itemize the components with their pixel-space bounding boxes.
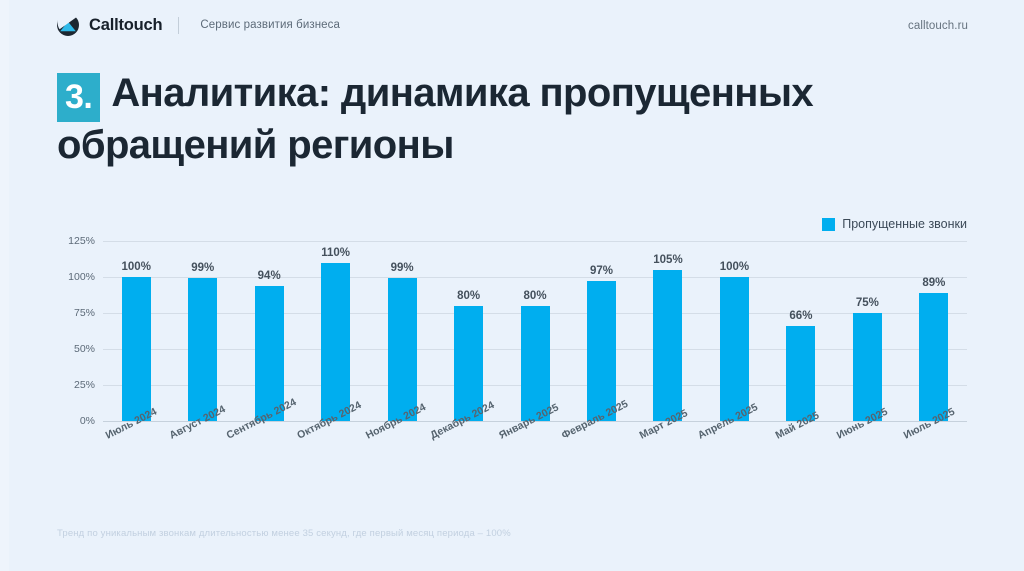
bar[interactable]	[919, 293, 948, 421]
bar-value-label: 105%	[635, 254, 701, 266]
x-axis: Июль 2024Август 2024Сентябрь 2024Октябрь…	[103, 427, 967, 495]
bar-group: 100%99%94%110%99%80%80%97%105%100%66%75%…	[103, 241, 967, 421]
y-axis-tick-label: 75%	[74, 307, 95, 319]
bar-value-label: 80%	[435, 290, 501, 302]
x-axis-slot: Май 2025	[768, 427, 834, 495]
bar-value-label: 66%	[768, 310, 834, 322]
bar[interactable]	[653, 270, 682, 421]
x-axis-slot: Июль 2024	[103, 427, 169, 495]
bar-value-label: 89%	[901, 277, 967, 289]
bar[interactable]	[255, 286, 284, 421]
brand-name: Calltouch	[89, 16, 162, 35]
section-number-badge: 3.	[57, 73, 100, 122]
bar-slot: 80%	[502, 241, 568, 421]
bar-slot: 94%	[236, 241, 302, 421]
bar-value-label: 80%	[502, 290, 568, 302]
x-axis-slot: Октябрь 2024	[302, 427, 368, 495]
bar-value-label: 75%	[834, 297, 900, 309]
y-axis-tick-label: 100%	[68, 271, 95, 283]
bar[interactable]	[188, 278, 217, 421]
title-text-2: обращений регионы	[57, 122, 957, 168]
bar[interactable]	[454, 306, 483, 421]
x-axis-slot: Июнь 2025	[834, 427, 900, 495]
bar-value-label: 110%	[302, 247, 368, 259]
legend-swatch-icon	[822, 218, 835, 231]
bar-value-label: 94%	[236, 270, 302, 282]
site-url: calltouch.ru	[908, 20, 968, 32]
page-title: 3.Аналитика: динамика пропущенных обраще…	[57, 70, 957, 168]
bar-slot: 75%	[834, 241, 900, 421]
x-axis-slot: Февраль 2025	[568, 427, 634, 495]
x-axis-slot: Апрель 2025	[701, 427, 767, 495]
bar-value-label: 99%	[369, 262, 435, 274]
x-axis-slot: Сентябрь 2024	[236, 427, 302, 495]
bar[interactable]	[321, 263, 350, 421]
brand-lockup: Calltouch Сервис развития бизнеса	[56, 13, 340, 37]
chart: Пропущенные звонки 0%25%50%75%100%125% 1…	[57, 205, 967, 495]
footnote: Тренд по уникальным звонкам длительность…	[57, 528, 511, 539]
bar-value-label: 100%	[103, 261, 169, 273]
bar-slot: 110%	[302, 241, 368, 421]
x-axis-slot: Июль 2025	[901, 427, 967, 495]
bar[interactable]	[720, 277, 749, 421]
bar[interactable]	[388, 278, 417, 421]
brand-divider	[178, 17, 179, 34]
y-axis-tick-label: 125%	[68, 235, 95, 247]
bar-slot: 105%	[635, 241, 701, 421]
title-line-1: 3.Аналитика: динамика пропущенных	[57, 70, 957, 122]
x-axis-slot: Август 2024	[169, 427, 235, 495]
bar-slot: 99%	[369, 241, 435, 421]
bar-value-label: 97%	[568, 265, 634, 277]
bar[interactable]	[122, 277, 151, 421]
bar[interactable]	[853, 313, 882, 421]
bar-value-label: 100%	[701, 261, 767, 273]
bar-value-label: 99%	[169, 262, 235, 274]
bar[interactable]	[786, 326, 815, 421]
bar-slot: 100%	[701, 241, 767, 421]
bar-slot: 100%	[103, 241, 169, 421]
y-axis: 0%25%50%75%100%125%	[57, 241, 103, 421]
bar[interactable]	[521, 306, 550, 421]
y-axis-tick-label: 50%	[74, 343, 95, 355]
x-axis-slot: Ноябрь 2024	[369, 427, 435, 495]
y-axis-tick-label: 25%	[74, 379, 95, 391]
bar-slot: 97%	[568, 241, 634, 421]
bar-slot: 99%	[169, 241, 235, 421]
bar[interactable]	[587, 281, 616, 421]
plot-area: 0%25%50%75%100%125% 100%99%94%110%99%80%…	[57, 241, 967, 421]
y-axis-tick-label: 0%	[80, 415, 95, 427]
bar-slot: 80%	[435, 241, 501, 421]
slide: Calltouch Сервис развития бизнеса callto…	[0, 0, 1024, 571]
calltouch-logo-icon	[56, 13, 80, 37]
slide-header: Calltouch Сервис развития бизнеса callto…	[0, 0, 1024, 56]
title-text-1: Аналитика: динамика пропущенных	[111, 71, 813, 115]
x-axis-slot: Март 2025	[635, 427, 701, 495]
chart-legend: Пропущенные звонки	[822, 217, 967, 231]
x-axis-slot: Декабрь 2024	[435, 427, 501, 495]
left-edge-strip	[0, 0, 9, 571]
brand-tagline: Сервис развития бизнеса	[200, 19, 340, 31]
legend-label: Пропущенные звонки	[842, 217, 967, 231]
x-axis-slot: Январь 2025	[502, 427, 568, 495]
bar-slot: 89%	[901, 241, 967, 421]
bar-slot: 66%	[768, 241, 834, 421]
